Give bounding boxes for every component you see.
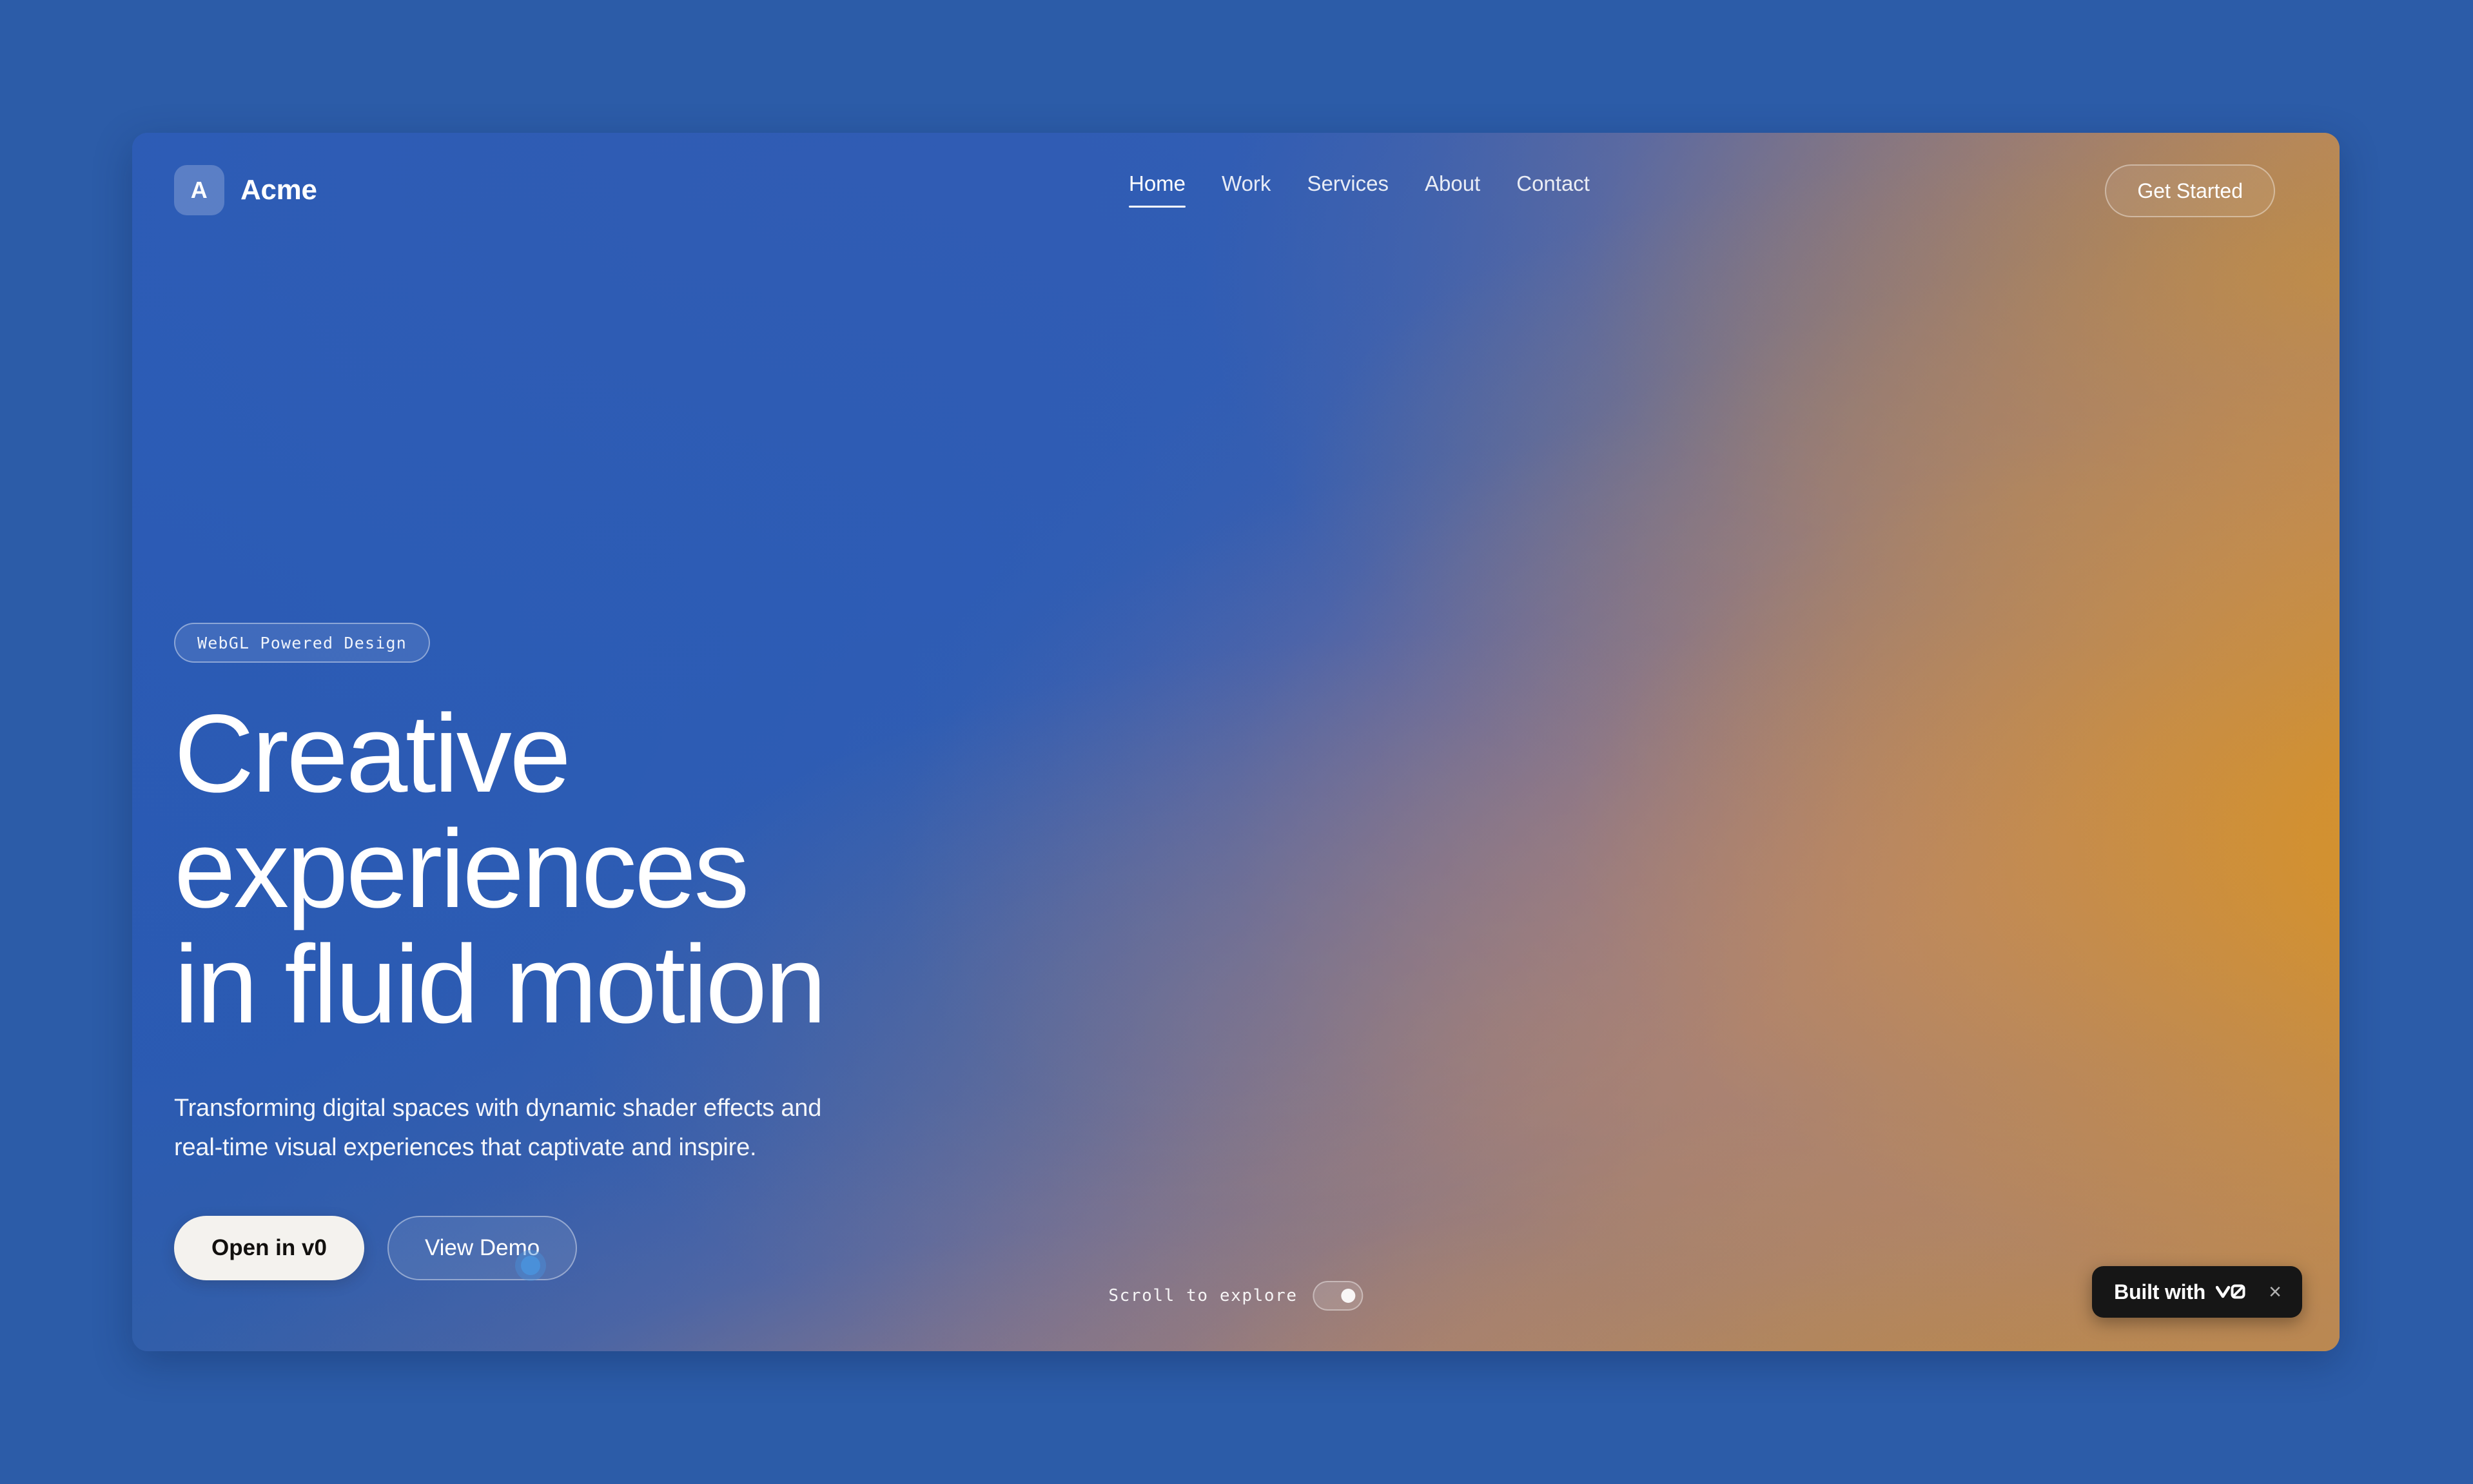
subtitle-line-1: Transforming digital spaces with dynamic…: [174, 1089, 1463, 1129]
get-started-button[interactable]: Get Started: [2105, 164, 2275, 217]
built-with-label: Built with: [2114, 1280, 2205, 1304]
hero-subtitle: Transforming digital spaces with dynamic…: [174, 1089, 1463, 1168]
subtitle-line-2: real-time visual experiences that captiv…: [174, 1128, 1463, 1168]
hero-actions: Open in v0 View Demo: [174, 1216, 1463, 1280]
title-line-3: in fluid motion: [174, 927, 1463, 1042]
hero-badge: WebGL Powered Design: [174, 623, 430, 663]
site-header: A Acme Home Work Services About Contact …: [132, 133, 2340, 249]
scroll-toggle[interactable]: [1313, 1281, 1364, 1311]
title-line-2: experiences: [174, 812, 1463, 927]
view-demo-button[interactable]: View Demo: [387, 1216, 577, 1280]
main-nav: Home Work Services About Contact: [1111, 171, 1608, 196]
brand-name: Acme: [240, 174, 317, 206]
open-in-v0-button[interactable]: Open in v0: [174, 1216, 364, 1280]
nav-item-work[interactable]: Work: [1204, 171, 1289, 196]
v0-logo-icon: [2216, 1282, 2245, 1302]
nav-item-contact[interactable]: Contact: [1498, 171, 1608, 196]
scroll-label: Scroll to explore: [1108, 1286, 1297, 1305]
close-icon[interactable]: ×: [2265, 1281, 2285, 1303]
page-title: Creative experiences in fluid motion: [174, 696, 1463, 1042]
brand-logo[interactable]: A Acme: [174, 165, 317, 215]
scroll-indicator: Scroll to explore: [1108, 1281, 1363, 1311]
nav-item-services[interactable]: Services: [1289, 171, 1407, 196]
nav-item-about[interactable]: About: [1407, 171, 1498, 196]
built-with-badge[interactable]: Built with ×: [2092, 1266, 2302, 1318]
brand-mark-icon: A: [174, 165, 224, 215]
nav-item-home[interactable]: Home: [1111, 171, 1204, 196]
page-root: A Acme Home Work Services About Contact …: [0, 0, 2473, 1484]
hero-card: A Acme Home Work Services About Contact …: [132, 133, 2340, 1351]
card-content: A Acme Home Work Services About Contact …: [132, 133, 2340, 1351]
scroll-toggle-dot: [1342, 1289, 1356, 1303]
hero-content: WebGL Powered Design Creative experience…: [174, 623, 1463, 1280]
title-line-1: Creative: [174, 696, 1463, 812]
